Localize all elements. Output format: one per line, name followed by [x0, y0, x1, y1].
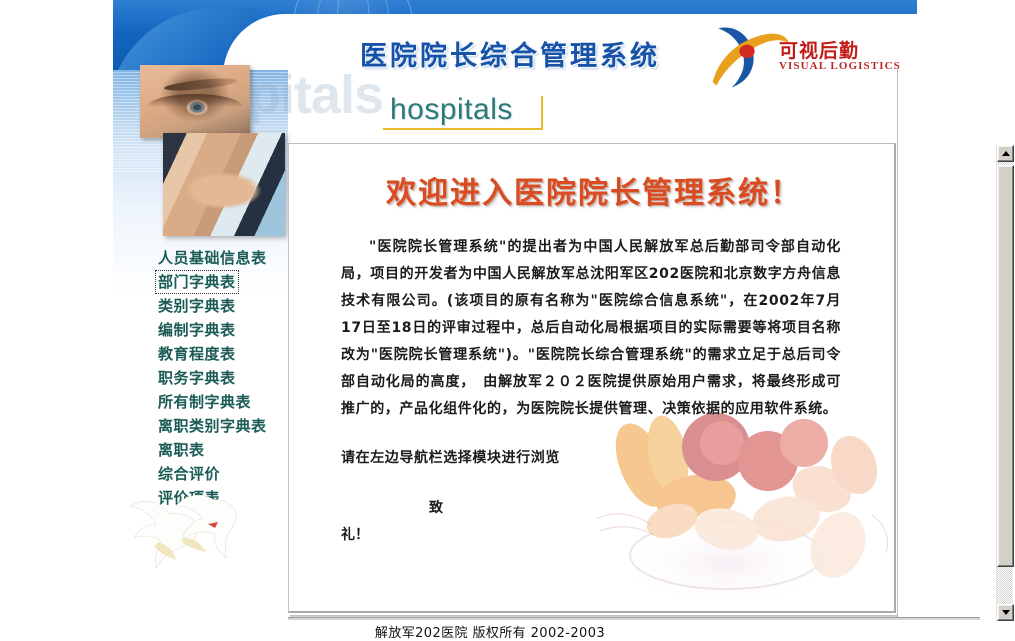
scroll-up-button[interactable] — [997, 145, 1014, 162]
scroll-down-arrow-icon — [1002, 610, 1010, 615]
footer-divider — [288, 617, 980, 620]
banner-subtitle: hospitals — [390, 93, 513, 127]
eye-brow-detail — [164, 76, 237, 93]
vertical-scrollbar[interactable] — [996, 145, 1013, 621]
scroll-up-arrow-icon — [1002, 151, 1010, 156]
welcome-title: 欢迎进入医院院长管理系统！ — [329, 168, 859, 212]
footer-copyright: 解放军202医院 版权所有 2002-2003 — [0, 622, 980, 641]
intro-paragraph-text: "医院院长管理系统"的提出者为中国人民解放军总后勤部司令部自动化局，项目的开发者… — [341, 234, 841, 423]
sidebar-nav: 人员基础信息表部门字典表类别字典表编制字典表教育程度表职务字典表所有制字典表离职… — [155, 246, 305, 510]
sidebar-item-7[interactable]: 离职类别字典表 — [155, 414, 270, 438]
sidebar-item-3[interactable]: 编制字典表 — [155, 318, 239, 342]
salutation-line-2: 礼！ — [341, 524, 369, 544]
logo-english-text: VISUAL LOGISTICS — [779, 60, 901, 72]
sidebar-item-4[interactable]: 教育程度表 — [155, 342, 239, 366]
page-left-gutter — [0, 0, 113, 641]
system-title: 医院院长综合管理系统 — [360, 34, 660, 73]
sidebar-item-2[interactable]: 类别字典表 — [155, 294, 239, 318]
salutation-line-1: 致 — [429, 497, 443, 517]
sidebar-item-1[interactable]: 部门字典表 — [155, 270, 239, 294]
sidebar-item-0[interactable]: 人员基础信息表 — [155, 246, 270, 270]
sidebar-item-8[interactable]: 离职表 — [155, 438, 208, 462]
sidebar-item-6[interactable]: 所有制字典表 — [155, 390, 254, 414]
eye-lid-detail — [147, 94, 244, 107]
eye-photo — [140, 65, 250, 138]
doves-image — [122, 480, 262, 575]
page-right-divider — [897, 69, 898, 618]
sidebar-item-5[interactable]: 职务字典表 — [155, 366, 239, 390]
yellow-rule-vertical — [541, 96, 543, 130]
navigation-hint: 请在左边导航栏选择模块进行浏览 — [341, 447, 560, 467]
content-panel: 欢迎进入医院院长管理系统！ "医院院长管理系统"的提出者为中国人民解放军总后勤部… — [288, 143, 896, 613]
scroll-down-button[interactable] — [997, 604, 1014, 621]
yellow-rule-horizontal — [383, 128, 543, 130]
intro-paragraph: "医院院长管理系统"的提出者为中国人民解放军总后勤部司令部自动化局，项目的开发者… — [341, 234, 841, 423]
scrollbar-thumb[interactable] — [997, 165, 1014, 567]
handshake-photo — [163, 133, 285, 236]
brand-logo: 可视后勤 VISUAL LOGISTICS — [705, 28, 875, 90]
logo-chinese-text: 可视后勤 — [779, 36, 859, 63]
browser-page: hospitals 医院院长综合管理系统 可视后勤 VISUAL LOGISTI… — [0, 0, 1015, 641]
